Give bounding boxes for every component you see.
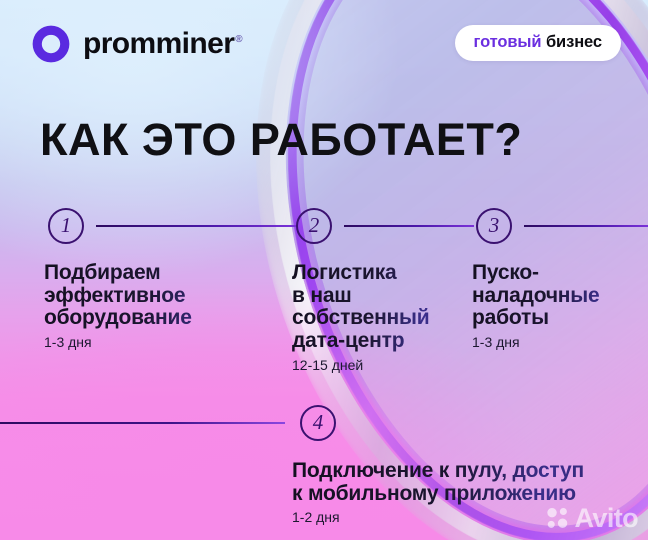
- registered-mark: ®: [235, 34, 242, 45]
- promminer-pinwheel-icon: [30, 23, 72, 65]
- step-number-4: 4: [300, 405, 336, 441]
- brand-logo[interactable]: promminer®: [30, 23, 242, 65]
- badge-accent-word: готовый: [474, 33, 542, 51]
- avito-wordmark: Avito: [575, 505, 639, 532]
- step-rail-3: 3: [476, 208, 648, 244]
- step-block-2: Логистика в наш собственный дата-центр 1…: [292, 262, 472, 373]
- step-number-1: 1: [48, 208, 84, 244]
- rail-connector-4: [0, 422, 285, 424]
- rail-connector-2: [344, 225, 474, 227]
- step-number-3: 3: [476, 208, 512, 244]
- step-rail-1: 1: [48, 208, 298, 244]
- header: promminer® готовый бизнес: [0, 0, 648, 90]
- avito-dots-icon: [545, 506, 570, 531]
- step-rail-4: 4: [0, 405, 340, 441]
- step-rail-2: 2: [296, 208, 496, 244]
- badge-plain-word: бизнес: [546, 33, 602, 51]
- page-title: КАК ЭТО РАБОТАЕТ?: [40, 117, 522, 162]
- step-heading-4: Подключение к пулу, доступ к мобильному …: [292, 460, 642, 505]
- brand-name: promminer®: [83, 29, 242, 59]
- step-duration-1: 1-3 дня: [44, 335, 280, 350]
- status-badge[interactable]: готовый бизнес: [455, 25, 621, 61]
- step-heading-2: Логистика в наш собственный дата-центр: [292, 262, 472, 353]
- step-heading-3: Пуско- наладочные работы: [472, 262, 648, 330]
- poster-canvas: promminer® готовый бизнес КАК ЭТО РАБОТА…: [0, 0, 648, 540]
- rail-connector-3: [524, 225, 648, 227]
- step-block-3: Пуско- наладочные работы 1-3 дня: [472, 262, 648, 350]
- step-block-1: Подбираем эффективное оборудование 1-3 д…: [44, 262, 280, 350]
- step-duration-3: 1-3 дня: [472, 335, 648, 350]
- step-heading-1: Подбираем эффективное оборудование: [44, 262, 280, 330]
- brand-name-text: promminer: [83, 27, 234, 60]
- avito-watermark: Avito: [545, 505, 639, 532]
- rail-connector-1: [96, 225, 296, 227]
- step-number-2: 2: [296, 208, 332, 244]
- step-duration-2: 12-15 дней: [292, 358, 472, 373]
